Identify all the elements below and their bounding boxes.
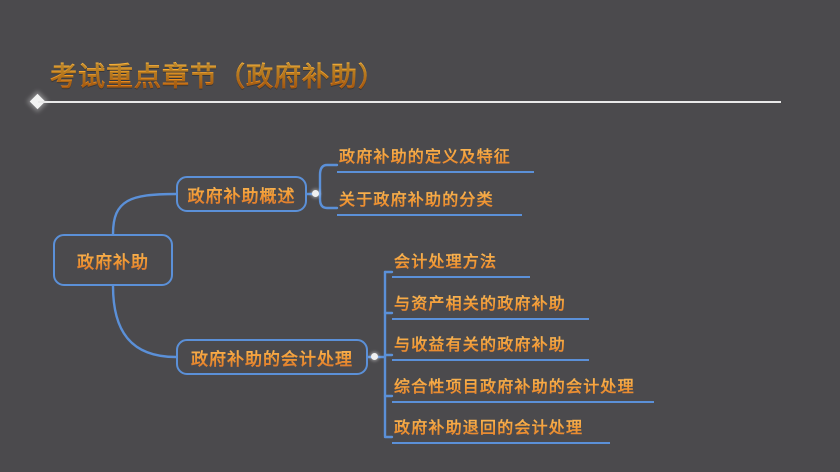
mindmap-leaf-item[interactable]: 政府补助退回的会计处理 xyxy=(392,414,610,444)
mindmap-leaf-underline xyxy=(392,318,589,320)
mindmap-leaf-item[interactable]: 关于政府补助的分类 xyxy=(337,186,522,216)
mindmap-root-label: 政府补助 xyxy=(77,248,149,273)
mindmap-leaf-item[interactable]: 与收益有关的政府补助 xyxy=(392,331,589,361)
mindmap-leaf-underline xyxy=(337,171,534,173)
mindmap-leaf-label: 政府补助的定义及特征 xyxy=(337,143,534,171)
mindmap-branch-accounting[interactable]: 政府补助的会计处理 xyxy=(176,339,368,375)
mindmap-leaf-underline xyxy=(337,214,522,216)
junction-dot-overview xyxy=(312,190,319,197)
slide-canvas: 考试重点章节（政府补助） 政府补助 政府补助概述 政府补助的 xyxy=(0,0,840,472)
mindmap-leaf-item[interactable]: 与资产相关的政府补助 xyxy=(392,290,589,320)
mindmap-leaf-item[interactable]: 综合性项目政府补助的会计处理 xyxy=(392,373,654,403)
page-title: 考试重点章节（政府补助） xyxy=(50,55,386,94)
mindmap-branch-accounting-label: 政府补助的会计处理 xyxy=(191,345,353,370)
mindmap-leaf-label: 与资产相关的政府补助 xyxy=(392,290,589,318)
mindmap-leaf-label: 会计处理方法 xyxy=(392,248,530,276)
bracket-upper-top xyxy=(320,165,337,194)
mindmap-leaf-underline xyxy=(392,442,610,444)
mindmap-leaf-item[interactable]: 会计处理方法 xyxy=(392,248,530,278)
mindmap-leaf-underline xyxy=(392,276,530,278)
edge-root-to-overview xyxy=(113,194,176,234)
mindmap-leaf-item[interactable]: 政府补助的定义及特征 xyxy=(337,143,534,173)
mindmap-leaf-label: 政府补助退回的会计处理 xyxy=(392,414,610,442)
mindmap-branch-overview-label: 政府补助概述 xyxy=(188,182,296,207)
title-divider xyxy=(38,101,781,103)
mindmap-leaf-label: 关于政府补助的分类 xyxy=(337,186,522,214)
mindmap-leaf-underline xyxy=(392,401,654,403)
edge-root-to-accounting xyxy=(113,286,176,357)
mindmap-root-node[interactable]: 政府补助 xyxy=(53,234,173,286)
mindmap-branch-overview[interactable]: 政府补助概述 xyxy=(176,176,307,212)
title-block: 考试重点章节（政府补助） xyxy=(50,55,790,110)
bracket-upper-bottom xyxy=(320,194,337,208)
mindmap-leaf-label: 与收益有关的政府补助 xyxy=(392,331,589,359)
mindmap-leaf-underline xyxy=(392,359,589,361)
junction-dot-accounting xyxy=(371,353,378,360)
mindmap-leaf-label: 综合性项目政府补助的会计处理 xyxy=(392,373,654,401)
